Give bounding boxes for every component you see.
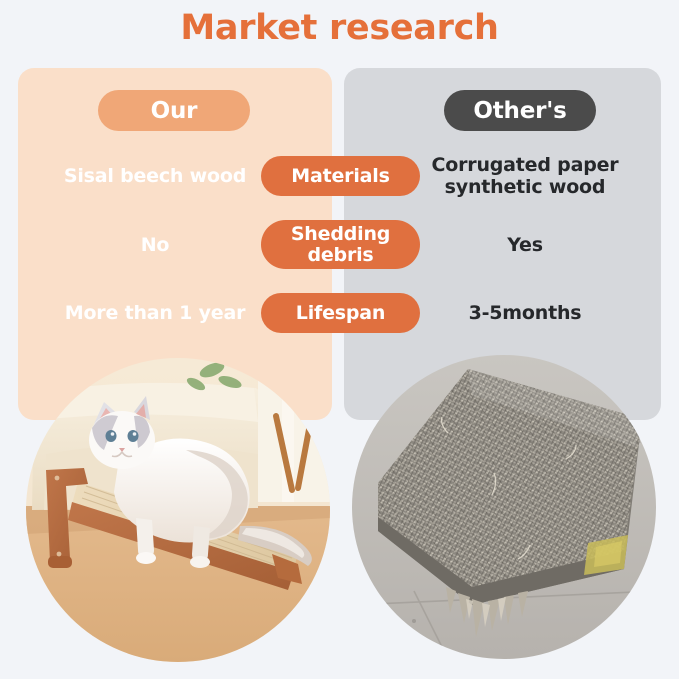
attribute-pill-shedding-debris: Sheddingdebris <box>261 220 420 269</box>
page-title: Market research <box>0 8 679 48</box>
infographic-root: Market research Our Other's Sisal beech … <box>0 0 679 679</box>
others-value-materials: Corrugated papersynthetic wood <box>410 148 640 204</box>
our-product-photo <box>26 358 330 662</box>
others-value-lifespan: 3-5months <box>410 289 640 337</box>
others-product-illustration <box>352 355 656 659</box>
our-value-materials: Sisal beech wood <box>40 152 270 200</box>
our-column-header: Our <box>98 90 250 131</box>
our-product-illustration <box>26 358 330 662</box>
attribute-pill-lifespan: Lifespan <box>261 293 420 333</box>
our-value-lifespan: More than 1 year <box>40 289 270 337</box>
others-column-header: Other's <box>444 90 596 131</box>
others-product-photo <box>352 355 656 659</box>
attribute-pill-materials: Materials <box>261 156 420 196</box>
others-value-shedding-debris: Yes <box>410 220 640 269</box>
our-value-shedding-debris: No <box>40 220 270 269</box>
